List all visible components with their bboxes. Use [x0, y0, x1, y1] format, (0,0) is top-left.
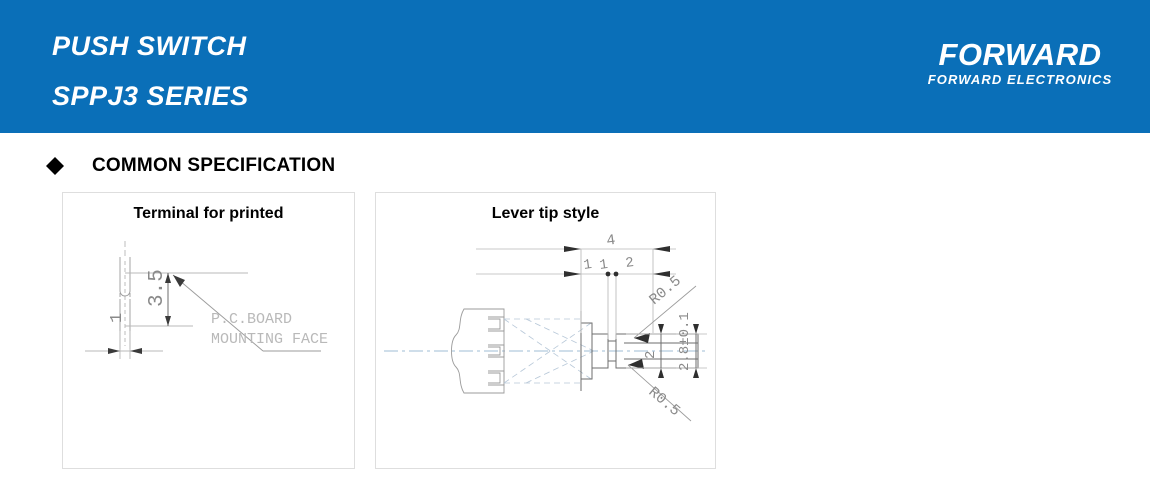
figure-lever-drawing: 4 1 1 2 R0.5 R0.5	[376, 231, 715, 461]
terminal-drawing-svg: 3.5 P.C.BOARD MOUNTING FACE 1	[63, 231, 354, 461]
note-pc-board: P.C.BOARD	[211, 311, 292, 328]
dimension-label-1-b: 1	[598, 257, 609, 274]
panel-lever-tip-style: Lever tip style	[375, 192, 716, 469]
page-title-line-1: PUSH SWITCH	[52, 21, 249, 71]
dimension-label-4: 4	[605, 232, 616, 250]
lever-drawing-svg: 4 1 1 2 R0.5 R0.5	[376, 231, 715, 461]
page-title-line-2: SPPJ3 SERIES	[52, 71, 249, 121]
dimension-label-2-vertical: 2	[643, 351, 659, 359]
dimension-label-3-5: 3.5	[146, 269, 169, 307]
panel-title-lever: Lever tip style	[376, 205, 715, 223]
dimension-label-1: 1	[108, 313, 127, 323]
radius-label-lower: R0.5	[645, 384, 684, 420]
dimension-label-2-8-tolerance: 2.8±0.1	[677, 312, 693, 371]
note-mounting-face: MOUNTING FACE	[211, 331, 328, 348]
figure-terminal-drawing: 3.5 P.C.BOARD MOUNTING FACE 1	[63, 231, 354, 461]
dimension-label-2-horizontal: 2	[624, 255, 635, 272]
company-logo: FORWARD FORWARD ELECTRONICS	[920, 38, 1120, 88]
dimension-label-1-a: 1	[582, 257, 593, 274]
radius-label-upper: R0.5	[646, 273, 685, 309]
panel-terminal-for-printed: Terminal for printed	[62, 192, 355, 469]
diamond-bullet-icon	[46, 148, 64, 166]
header-title-block: PUSH SWITCH SPPJ3 SERIES	[52, 21, 249, 121]
panel-title-terminal: Terminal for printed	[63, 205, 354, 223]
page-header: PUSH SWITCH SPPJ3 SERIES FORWARD FORWARD…	[0, 0, 1150, 133]
section-heading: COMMON SPECIFICATION	[46, 155, 335, 177]
logo-tagline: FORWARD ELECTRONICS	[920, 72, 1120, 88]
section-title: COMMON SPECIFICATION	[92, 155, 335, 177]
logo-wordmark: FORWARD	[920, 38, 1120, 72]
